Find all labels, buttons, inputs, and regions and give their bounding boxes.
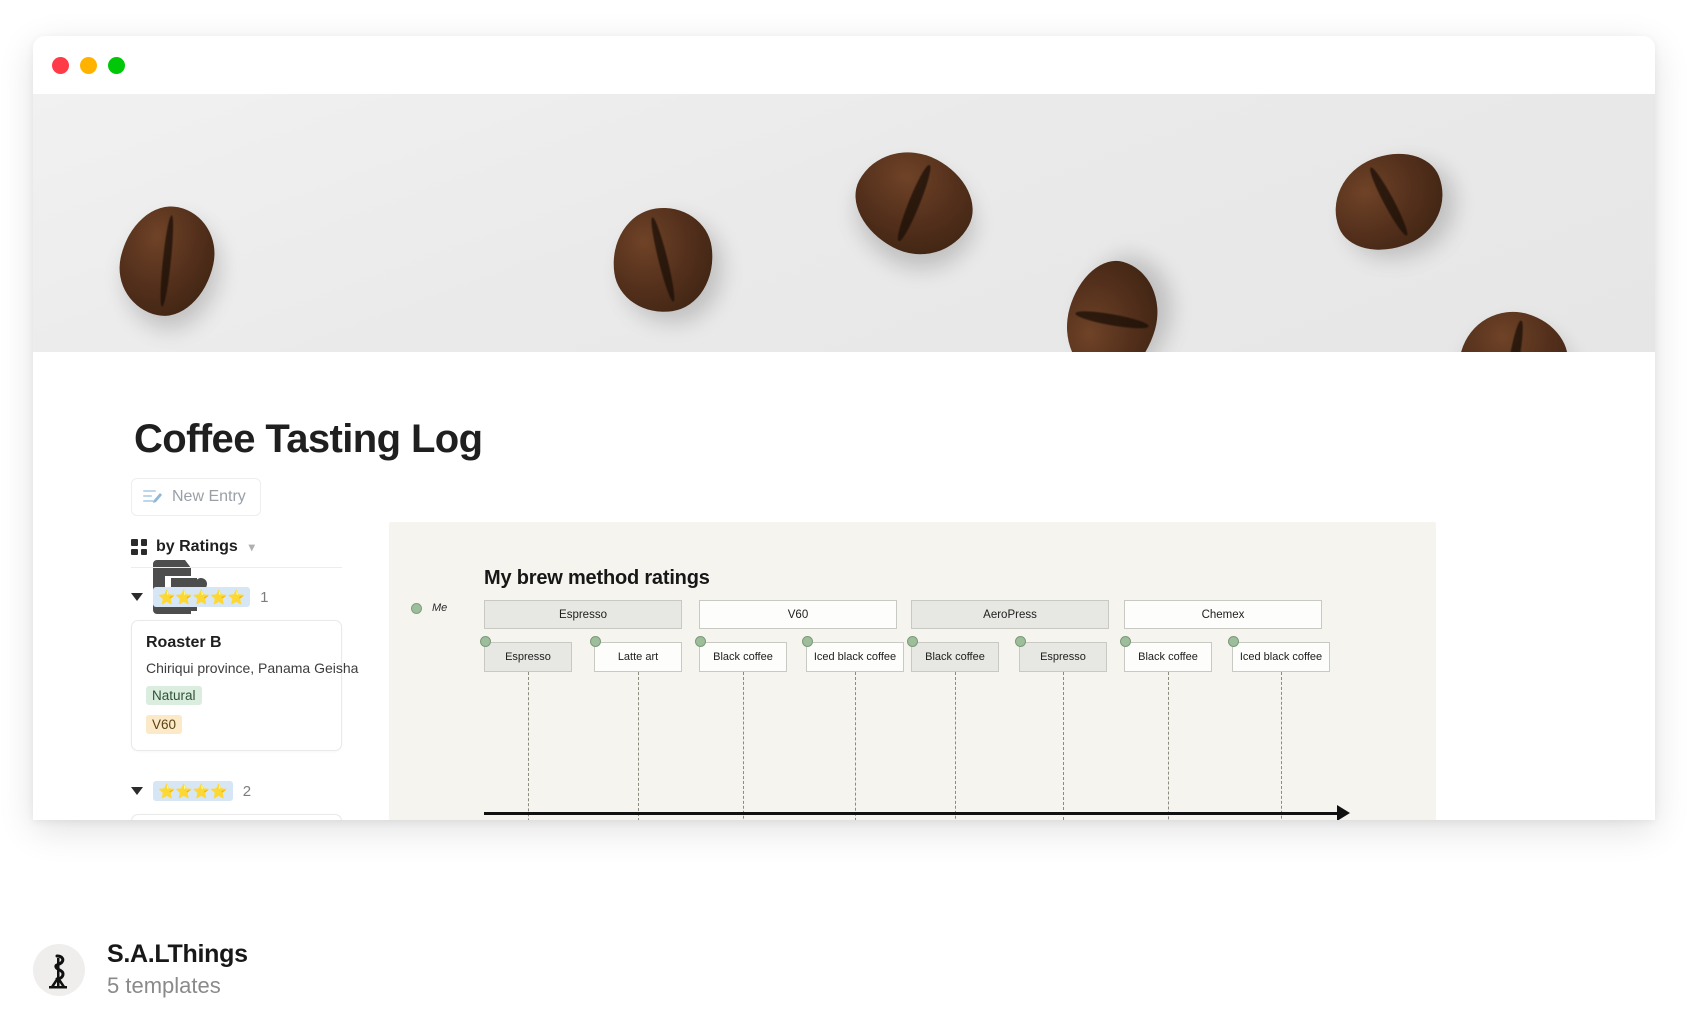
drink-box-label: Latte art	[618, 651, 658, 663]
drink-box-label: Iced black coffee	[814, 651, 896, 663]
drink-box[interactable]: Latte art	[594, 642, 682, 672]
collapse-triangle-icon[interactable]	[131, 593, 143, 601]
cover-image	[33, 94, 1655, 352]
method-box[interactable]: AeroPress	[911, 600, 1109, 629]
drink-box[interactable]: Black coffee	[1124, 642, 1212, 672]
connector-node	[1015, 636, 1026, 647]
drop-line	[1063, 672, 1064, 820]
app-window: Coffee Tasting Log New Entry	[33, 36, 1655, 820]
drop-line	[1281, 672, 1282, 820]
drop-line	[743, 672, 744, 820]
rating-group-header[interactable]: ⭐⭐⭐⭐ 2	[131, 781, 342, 801]
connector-node	[1228, 636, 1239, 647]
method-box-label: V60	[788, 609, 808, 621]
brew-method-chart: My brew method ratings Me EspressoV60Aer…	[389, 522, 1436, 820]
avatar	[33, 944, 85, 996]
entry-card-title: Roaster B	[146, 634, 327, 652]
entry-card[interactable]	[131, 814, 342, 820]
new-entry-icon	[143, 488, 163, 506]
new-entry-button[interactable]: New Entry	[131, 478, 261, 516]
grid-icon	[131, 539, 147, 555]
view-selector[interactable]: by Ratings ▾	[131, 538, 342, 568]
new-entry-label: New Entry	[172, 488, 246, 506]
connector-node	[1120, 636, 1131, 647]
collapse-triangle-icon[interactable]	[131, 787, 143, 795]
page-root: Coffee Tasting Log New Entry	[0, 0, 1688, 1034]
chart-axis-arrow	[1337, 805, 1350, 820]
method-box-label: AeroPress	[983, 609, 1037, 621]
close-button[interactable]	[52, 57, 69, 74]
coffee-bean-icon	[111, 198, 224, 325]
connector-node	[695, 636, 706, 647]
drink-box-label: Espresso	[1040, 651, 1086, 663]
drink-box-label: Black coffee	[925, 651, 985, 663]
coffee-bean-icon	[606, 202, 720, 319]
coffee-bean-icon	[839, 132, 989, 274]
coffee-bean-icon	[1053, 251, 1170, 352]
drink-box-label: Espresso	[505, 651, 551, 663]
rating-stars-badge: ⭐⭐⭐⭐	[153, 781, 233, 801]
connector-node	[480, 636, 491, 647]
rating-stars-badge: ⭐⭐⭐⭐⭐	[153, 587, 250, 607]
entry-tag-method: V60	[146, 715, 182, 734]
page-title: Coffee Tasting Log	[134, 417, 482, 462]
template-count: 5 templates	[107, 973, 248, 999]
legend-dot-icon	[411, 603, 422, 614]
drop-line	[855, 672, 856, 820]
method-box-label: Espresso	[559, 609, 607, 621]
drop-line	[1168, 672, 1169, 820]
coffee-bean-icon	[1450, 299, 1578, 352]
chart-legend: Me	[411, 602, 447, 614]
drink-box[interactable]: Black coffee	[911, 642, 999, 672]
drink-box-label: Black coffee	[1138, 651, 1198, 663]
coffee-bean-icon	[1320, 138, 1458, 265]
drink-box[interactable]: Iced black coffee	[1232, 642, 1330, 672]
method-box[interactable]: V60	[699, 600, 897, 629]
drop-line	[638, 672, 639, 820]
entry-tag-process: Natural	[146, 686, 202, 705]
legend-label: Me	[432, 602, 447, 614]
drop-line	[955, 672, 956, 820]
connector-node	[802, 636, 813, 647]
connector-node	[907, 636, 918, 647]
window-titlebar	[33, 36, 1655, 94]
author-footer[interactable]: S.A.LThings 5 templates	[33, 940, 248, 999]
connector-node	[590, 636, 601, 647]
drink-box[interactable]: Espresso	[484, 642, 572, 672]
rating-group-header[interactable]: ⭐⭐⭐⭐⭐ 1	[131, 587, 342, 607]
entry-card-origin: Chiriqui province, Panama Geisha	[146, 660, 327, 676]
maximize-button[interactable]	[108, 57, 125, 74]
rating-group-count: 1	[260, 589, 268, 606]
drink-box[interactable]: Iced black coffee	[806, 642, 904, 672]
chevron-down-icon[interactable]: ▾	[249, 540, 255, 554]
method-box[interactable]: Espresso	[484, 600, 682, 629]
drink-box-label: Iced black coffee	[1240, 651, 1322, 663]
chart-title: My brew method ratings	[484, 567, 710, 590]
method-box-label: Chemex	[1202, 609, 1245, 621]
drink-box-label: Black coffee	[713, 651, 773, 663]
drink-box[interactable]: Espresso	[1019, 642, 1107, 672]
brand-name: S.A.LThings	[107, 940, 248, 969]
rating-group-count: 2	[243, 783, 251, 800]
view-label: by Ratings	[156, 538, 238, 556]
drink-box[interactable]: Black coffee	[699, 642, 787, 672]
ratings-sidebar: by Ratings ▾ ⭐⭐⭐⭐⭐ 1 Roaster B Chiriqui …	[131, 538, 342, 820]
chart-axis-line	[484, 812, 1339, 815]
drop-line	[528, 672, 529, 820]
minimize-button[interactable]	[80, 57, 97, 74]
method-box[interactable]: Chemex	[1124, 600, 1322, 629]
document-body: Coffee Tasting Log New Entry	[33, 352, 1655, 820]
entry-card[interactable]: Roaster B Chiriqui province, Panama Geis…	[131, 620, 342, 751]
